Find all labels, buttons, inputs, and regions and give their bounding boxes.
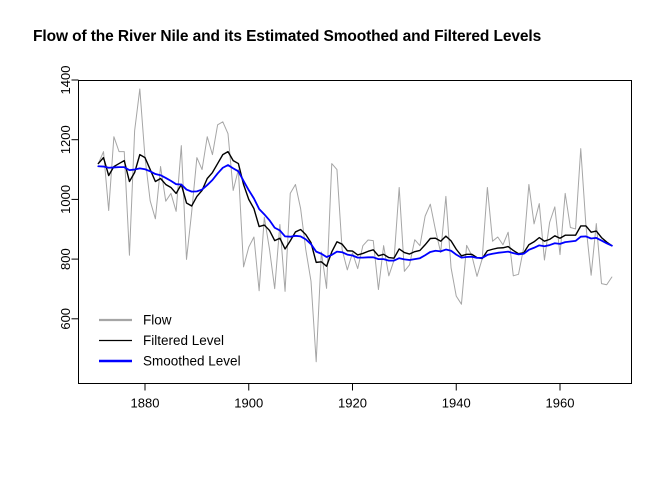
x-tick-label: 1920 — [338, 396, 367, 411]
series-line-flow — [98, 89, 612, 362]
chart-page: Flow of the River Nile and its Estimated… — [0, 0, 672, 480]
legend-label-filtered-level: Filtered Level — [143, 333, 224, 348]
y-tick-label: 1000 — [58, 185, 73, 214]
plot-area: 18801900192019401960 600800100012001400 … — [0, 0, 672, 480]
y-tick-label: 1200 — [58, 125, 73, 154]
x-tick-label: 1880 — [131, 396, 160, 411]
x-tick-label: 1960 — [546, 396, 575, 411]
x-tick-label: 1940 — [442, 396, 471, 411]
y-tick-label: 1400 — [58, 66, 73, 95]
chart-legend: FlowFiltered LevelSmoothed Level — [99, 313, 241, 369]
data-series-group — [98, 89, 612, 362]
nile-line-chart: 18801900192019401960 600800100012001400 … — [0, 0, 672, 480]
y-axis-ticks: 600800100012001400 — [58, 66, 79, 330]
y-tick-label: 800 — [58, 248, 73, 270]
series-line-smoothed-level — [98, 165, 612, 261]
legend-label-flow: Flow — [143, 313, 172, 328]
x-axis-ticks: 18801900192019401960 — [131, 384, 575, 411]
legend-label-smoothed-level: Smoothed Level — [143, 354, 241, 369]
y-tick-label: 600 — [58, 308, 73, 330]
x-tick-label: 1900 — [234, 396, 263, 411]
